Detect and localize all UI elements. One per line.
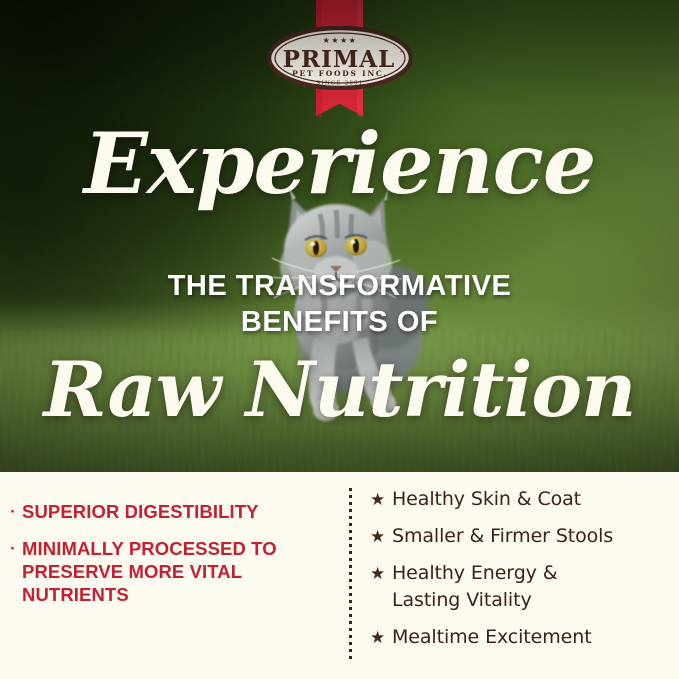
benefit-right-line-1: Smaller & Firmer Stools <box>392 525 613 547</box>
list-item: ★ Healthy Skin & Coat <box>370 486 670 513</box>
list-item: ★ Mealtime Excitement <box>370 624 670 651</box>
headline-line-2: BENEFITS OF <box>0 304 679 340</box>
star-bullet-icon: ★ <box>370 523 392 550</box>
column-divider <box>349 488 352 660</box>
star-bullet-icon: ★ <box>370 624 392 651</box>
benefit-right-label: Healthy Skin & Coat <box>392 486 581 513</box>
benefit-right-label: Healthy Energy & Lasting Vitality <box>392 560 557 614</box>
list-item: ★ Smaller & Firmer Stools <box>370 523 670 550</box>
list-item: · SUPERIOR DIGESTIBILITY <box>8 500 330 523</box>
hero-photo: ★★★★ PRIMAL ™ PET FOODS INC. SINCE 2001 … <box>0 0 679 472</box>
benefit-right-line-1: Healthy Energy & <box>392 562 557 584</box>
dot-bullet-icon: · <box>8 537 18 560</box>
star-bullet-icon: ★ <box>370 560 392 587</box>
benefits-right-column: ★ Healthy Skin & Coat ★ Smaller & Firmer… <box>370 486 670 661</box>
headline-subtitle: THE TRANSFORMATIVE BENEFITS OF <box>0 268 679 340</box>
benefits-panel: · SUPERIOR DIGESTIBILITY · MINIMALLY PRO… <box>0 472 679 679</box>
star-bullet-icon: ★ <box>370 486 392 513</box>
list-item: · MINIMALLY PROCESSED TO PRESERVE MORE V… <box>8 537 330 606</box>
dot-bullet-icon: · <box>8 500 18 523</box>
headline-script-experience: Experience <box>0 122 679 206</box>
benefit-right-label: Smaller & Firmer Stools <box>392 523 613 550</box>
benefit-right-line-2: Lasting Vitality <box>392 587 557 614</box>
benefit-right-line-1: Mealtime Excitement <box>392 626 592 648</box>
benefits-left-column: · SUPERIOR DIGESTIBILITY · MINIMALLY PRO… <box>8 500 330 620</box>
headline-script-raw-nutrition: Raw Nutrition <box>0 352 679 428</box>
primal-raw-nutrition-poster: ★★★★ PRIMAL ™ PET FOODS INC. SINCE 2001 … <box>0 0 679 679</box>
list-item: ★ Healthy Energy & Lasting Vitality <box>370 560 670 614</box>
benefit-right-line-1: Healthy Skin & Coat <box>392 488 581 510</box>
benefit-left-label: SUPERIOR DIGESTIBILITY <box>22 500 259 523</box>
headline-line-1: THE TRANSFORMATIVE <box>0 268 679 304</box>
benefit-left-label: MINIMALLY PROCESSED TO PRESERVE MORE VIT… <box>22 537 330 606</box>
benefit-right-label: Mealtime Excitement <box>392 624 592 651</box>
